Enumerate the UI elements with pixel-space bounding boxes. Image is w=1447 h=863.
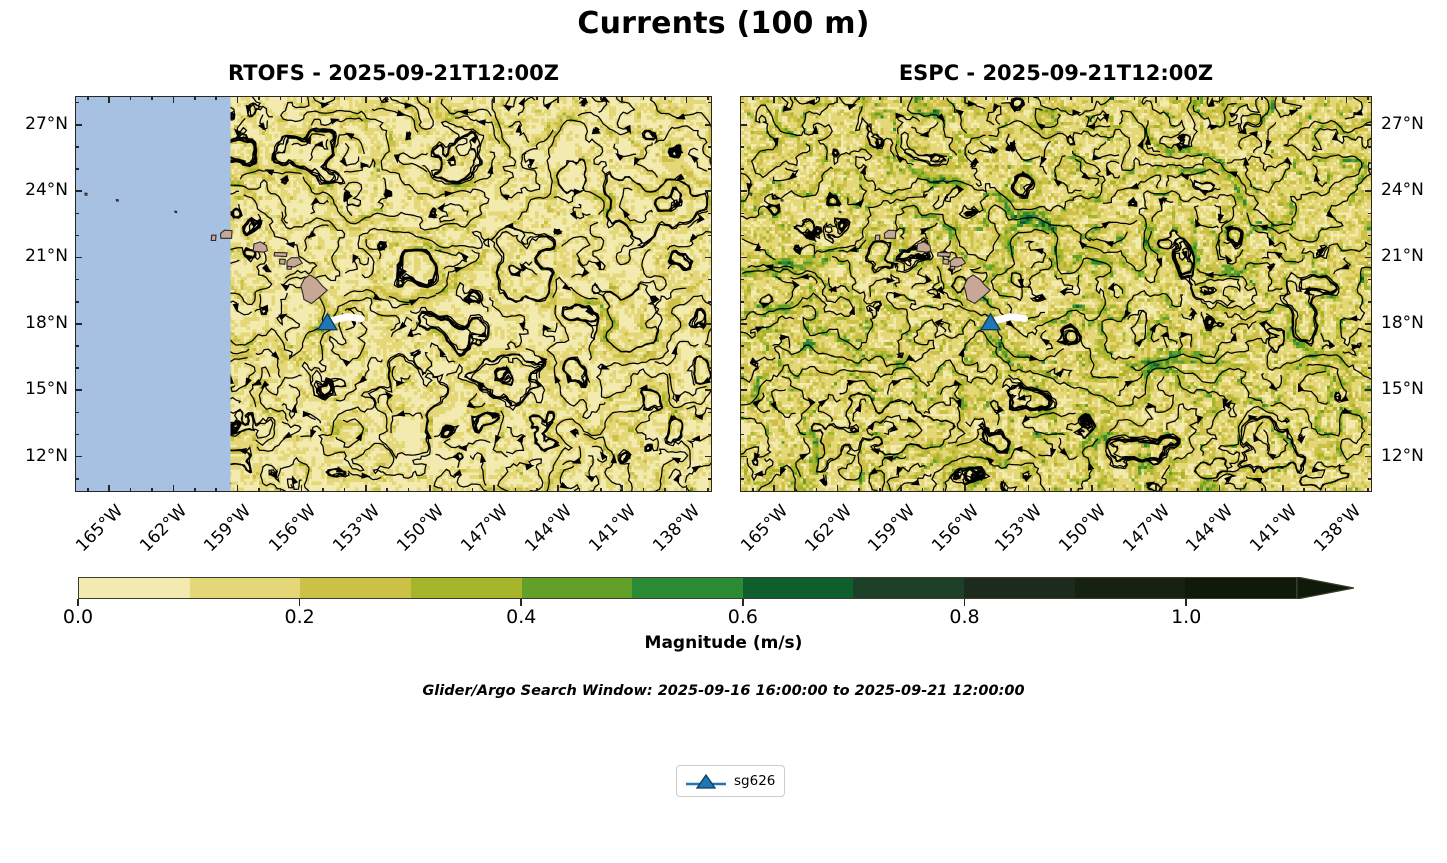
ytick-minor: [75, 478, 79, 480]
ytick-label-left: 27°N: [6, 114, 68, 134]
ytick-minor: [1368, 146, 1372, 148]
xtick-minor: [879, 488, 881, 492]
xtick-major: [837, 96, 839, 103]
ytick-minor: [1368, 412, 1372, 414]
ytick-major: [1365, 257, 1372, 259]
colorbar-segment: [964, 578, 1075, 598]
land-kauai: [884, 230, 896, 238]
ytick-major: [75, 257, 82, 259]
ytick-major: [705, 389, 712, 391]
search-window-note: Glider/Argo Search Window: 2025-09-16 16…: [0, 683, 1447, 699]
xtick-minor: [151, 488, 153, 492]
ytick-minor: [740, 301, 744, 303]
xtick-minor: [1113, 96, 1115, 100]
ytick-minor: [1368, 367, 1372, 369]
land-nihoa: [175, 211, 177, 212]
xtick-major: [1028, 485, 1030, 492]
xtick-minor: [451, 96, 453, 100]
ytick-minor: [708, 345, 712, 347]
ytick-major: [740, 190, 747, 192]
ytick-minor: [708, 412, 712, 414]
ytick-minor: [708, 478, 712, 480]
xtick-major: [1091, 485, 1093, 492]
land-molokai: [938, 252, 951, 256]
colorbar-segment: [79, 578, 190, 598]
xtick-minor: [985, 488, 987, 492]
land-nihoa: [839, 211, 841, 212]
xtick-major: [1346, 96, 1348, 103]
colorbar-tick: [299, 599, 301, 606]
xtick-label: 156°W: [918, 501, 983, 566]
ytick-major: [705, 124, 712, 126]
xtick-label: 150°W: [383, 501, 448, 566]
ytick-minor: [1368, 102, 1372, 104]
xtick-label: 150°W: [1045, 501, 1110, 566]
xtick-label: 162°W: [126, 501, 191, 566]
xtick-minor: [858, 488, 860, 492]
colorbar-segment: [632, 578, 743, 598]
xtick-label: 162°W: [791, 501, 856, 566]
ytick-minor: [708, 102, 712, 104]
xtick-major: [1219, 96, 1221, 103]
ytick-minor: [1368, 168, 1372, 170]
xtick-minor: [408, 96, 410, 100]
xtick-label: 147°W: [1109, 501, 1174, 566]
ytick-major: [75, 124, 82, 126]
xtick-minor: [215, 488, 217, 492]
ytick-major: [75, 190, 82, 192]
xtick-label: 159°W: [854, 501, 919, 566]
xtick-major: [237, 96, 239, 103]
xtick-minor: [707, 488, 709, 492]
xtick-minor: [472, 488, 474, 492]
xtick-label: 138°W: [639, 501, 704, 566]
land-niihau: [875, 235, 880, 240]
ytick-minor: [75, 367, 79, 369]
ytick-minor: [75, 213, 79, 215]
xtick-minor: [87, 96, 89, 100]
colorbar-tick-label: 1.0: [1141, 606, 1231, 628]
xtick-minor: [280, 96, 282, 100]
ytick-label-left: 21°N: [6, 246, 68, 266]
ytick-major: [1365, 456, 1372, 458]
map-panel-rtofs[interactable]: [75, 96, 712, 492]
ytick-major: [705, 323, 712, 325]
xtick-major: [493, 96, 495, 103]
ytick-minor: [740, 434, 744, 436]
colorbar-tick: [77, 599, 79, 606]
land-frigate: [85, 193, 87, 195]
ytick-major: [705, 190, 712, 192]
xtick-minor: [515, 488, 517, 492]
ytick-label-left: 18°N: [6, 313, 68, 333]
colorbar-tick-label: 0.6: [698, 606, 788, 628]
colorbar-segment: [743, 578, 854, 598]
xtick-major: [1028, 96, 1030, 103]
xtick-major: [837, 485, 839, 492]
colorbar-tick-label: 0.4: [476, 606, 566, 628]
ytick-minor: [1368, 235, 1372, 237]
ytick-major: [75, 456, 82, 458]
xtick-minor: [344, 488, 346, 492]
ytick-major: [1365, 124, 1372, 126]
xtick-major: [108, 485, 110, 492]
xtick-label: 156°W: [255, 501, 320, 566]
colorbar-segment: [853, 578, 964, 598]
ytick-minor: [75, 102, 79, 104]
ytick-minor: [75, 168, 79, 170]
ytick-label-left: 24°N: [6, 180, 68, 200]
xtick-minor: [472, 96, 474, 100]
ytick-label-right: 18°N: [1381, 313, 1447, 333]
ytick-minor: [75, 434, 79, 436]
ytick-major: [740, 124, 747, 126]
xtick-minor: [1176, 96, 1178, 100]
ytick-minor: [740, 478, 744, 480]
xtick-major: [773, 96, 775, 103]
xtick-minor: [1113, 488, 1115, 492]
ytick-minor: [708, 213, 712, 215]
ytick-label-left: 12°N: [6, 446, 68, 466]
xtick-major: [173, 485, 175, 492]
xtick-minor: [879, 96, 881, 100]
xtick-major: [301, 485, 303, 492]
xtick-minor: [280, 488, 282, 492]
ytick-minor: [740, 235, 744, 237]
ytick-minor: [740, 279, 744, 281]
colorbar-segment: [1185, 578, 1296, 598]
colorbar-tick: [520, 599, 522, 606]
ytick-minor: [1368, 213, 1372, 215]
xtick-label: 144°W: [511, 501, 576, 566]
ytick-minor: [75, 345, 79, 347]
xtick-minor: [1049, 96, 1051, 100]
xtick-label: 141°W: [575, 501, 640, 566]
xtick-major: [1282, 96, 1284, 103]
xtick-major: [686, 485, 688, 492]
current-field: [741, 97, 1371, 491]
xtick-minor: [1007, 96, 1009, 100]
xtick-minor: [752, 96, 754, 100]
xtick-major: [1282, 485, 1284, 492]
xtick-major: [1155, 485, 1157, 492]
xtick-minor: [322, 488, 324, 492]
xtick-major: [557, 96, 559, 103]
xtick-minor: [1197, 96, 1199, 100]
ytick-major: [740, 323, 747, 325]
ytick-major: [740, 257, 747, 259]
xtick-minor: [1134, 488, 1136, 492]
xtick-minor: [1049, 488, 1051, 492]
ytick-minor: [708, 146, 712, 148]
xtick-major: [621, 96, 623, 103]
ytick-label-right: 27°N: [1381, 114, 1447, 134]
legend-label-sg626: sg626: [734, 773, 775, 789]
xtick-label: 138°W: [1300, 501, 1365, 566]
xtick-minor: [816, 96, 818, 100]
ytick-minor: [708, 301, 712, 303]
xtick-minor: [600, 488, 602, 492]
ytick-minor: [75, 235, 79, 237]
ytick-minor: [740, 168, 744, 170]
xtick-minor: [816, 488, 818, 492]
ytick-major: [740, 389, 747, 391]
colorbar-tick-label: 0.2: [255, 606, 345, 628]
xtick-major: [1219, 485, 1221, 492]
xtick-minor: [922, 488, 924, 492]
land-necker: [781, 200, 783, 202]
xtick-label: 144°W: [1172, 501, 1237, 566]
ytick-minor: [708, 279, 712, 281]
colorbar: [78, 577, 1354, 599]
current-field: [76, 97, 711, 491]
ytick-minor: [1368, 345, 1372, 347]
legend-glider-icon: [684, 771, 728, 791]
xtick-label: 165°W: [62, 501, 127, 566]
colorbar-gradient: [78, 577, 1297, 599]
ytick-minor: [1368, 279, 1372, 281]
no-data-mask: [76, 97, 231, 491]
xtick-major: [493, 485, 495, 492]
ytick-minor: [1368, 478, 1372, 480]
xtick-minor: [1240, 96, 1242, 100]
ytick-major: [1365, 190, 1372, 192]
xtick-minor: [258, 488, 260, 492]
xtick-minor: [664, 488, 666, 492]
xtick-minor: [643, 488, 645, 492]
land-molokai: [274, 252, 287, 256]
xtick-minor: [1261, 96, 1263, 100]
ytick-major: [705, 257, 712, 259]
xtick-minor: [1240, 488, 1242, 492]
colorbar-tick: [964, 599, 966, 606]
ytick-minor: [1368, 301, 1372, 303]
xtick-minor: [1070, 96, 1072, 100]
ytick-minor: [740, 412, 744, 414]
land-kahoolawe: [950, 266, 955, 269]
colorbar-tick-label: 0.0: [33, 606, 123, 628]
ytick-major: [75, 389, 82, 391]
ytick-label-right: 24°N: [1381, 180, 1447, 200]
xtick-minor: [1007, 488, 1009, 492]
xtick-minor: [408, 488, 410, 492]
colorbar-segment: [522, 578, 633, 598]
colorbar-segment: [411, 578, 522, 598]
xtick-major: [108, 96, 110, 103]
xtick-minor: [1325, 96, 1327, 100]
xtick-minor: [858, 96, 860, 100]
xtick-minor: [1261, 488, 1263, 492]
xtick-minor: [451, 488, 453, 492]
xtick-minor: [386, 488, 388, 492]
glider-track: [331, 317, 361, 321]
land-frigate: [750, 193, 752, 195]
ytick-minor: [740, 146, 744, 148]
colorbar-segment: [300, 578, 411, 598]
xtick-minor: [344, 96, 346, 100]
colorbar-tick: [1185, 599, 1187, 606]
ytick-major: [75, 323, 82, 325]
colorbar-segment: [190, 578, 301, 598]
ytick-label-right: 21°N: [1381, 246, 1447, 266]
xtick-minor: [130, 96, 132, 100]
xtick-major: [686, 96, 688, 103]
xtick-minor: [922, 96, 924, 100]
ytick-minor: [708, 235, 712, 237]
page-title: Currents (100 m): [0, 6, 1447, 41]
xtick-minor: [794, 96, 796, 100]
xtick-major: [237, 485, 239, 492]
xtick-minor: [579, 488, 581, 492]
xtick-minor: [600, 96, 602, 100]
legend[interactable]: sg626: [676, 765, 785, 797]
colorbar-extend-arrow: [1297, 577, 1354, 599]
xtick-major: [365, 485, 367, 492]
xtick-minor: [1070, 488, 1072, 492]
xtick-major: [964, 96, 966, 103]
land-necker: [116, 200, 118, 202]
xtick-label: 153°W: [319, 501, 384, 566]
xtick-minor: [194, 96, 196, 100]
xtick-minor: [943, 488, 945, 492]
land-kahoolawe: [287, 266, 292, 269]
xtick-label: 147°W: [447, 501, 512, 566]
xtick-minor: [985, 96, 987, 100]
xtick-label: 153°W: [982, 501, 1047, 566]
xtick-minor: [1325, 488, 1327, 492]
xtick-minor: [1176, 488, 1178, 492]
ytick-minor: [708, 367, 712, 369]
xtick-minor: [258, 96, 260, 100]
ytick-major: [1365, 389, 1372, 391]
colorbar-tick: [742, 599, 744, 606]
ytick-minor: [740, 367, 744, 369]
xtick-minor: [194, 488, 196, 492]
xtick-minor: [130, 488, 132, 492]
xtick-minor: [579, 96, 581, 100]
ytick-minor: [708, 434, 712, 436]
colorbar-label: Magnitude (m/s): [0, 633, 1447, 653]
ytick-minor: [740, 345, 744, 347]
map-panel-espc[interactable]: [740, 96, 1372, 492]
xtick-label: 165°W: [727, 501, 792, 566]
panel-title-rtofs: RTOFS - 2025-09-21T12:00Z: [75, 61, 712, 85]
glider-track: [995, 317, 1025, 321]
panel-title-espc: ESPC - 2025-09-21T12:00Z: [740, 61, 1372, 85]
colorbar-tick-label: 0.8: [920, 606, 1010, 628]
xtick-major: [900, 485, 902, 492]
xtick-minor: [386, 96, 388, 100]
ytick-minor: [740, 213, 744, 215]
xtick-minor: [1303, 96, 1305, 100]
ytick-minor: [708, 168, 712, 170]
xtick-minor: [1367, 96, 1369, 100]
colorbar-segment: [1075, 578, 1186, 598]
xtick-minor: [1303, 488, 1305, 492]
ytick-label-right: 15°N: [1381, 379, 1447, 399]
xtick-major: [964, 485, 966, 492]
xtick-major: [621, 485, 623, 492]
ytick-major: [1365, 323, 1372, 325]
land-lanai: [943, 259, 949, 264]
xtick-minor: [215, 96, 217, 100]
xtick-minor: [322, 96, 324, 100]
xtick-minor: [515, 96, 517, 100]
xtick-minor: [536, 96, 538, 100]
land-kauai: [221, 230, 233, 238]
xtick-minor: [752, 488, 754, 492]
xtick-major: [429, 485, 431, 492]
xtick-major: [557, 485, 559, 492]
xtick-major: [365, 96, 367, 103]
ytick-minor: [740, 102, 744, 104]
xtick-minor: [943, 96, 945, 100]
ytick-major: [705, 456, 712, 458]
xtick-minor: [643, 96, 645, 100]
ytick-minor: [75, 279, 79, 281]
ytick-minor: [75, 412, 79, 414]
xtick-minor: [1197, 488, 1199, 492]
xtick-minor: [664, 96, 666, 100]
xtick-minor: [151, 96, 153, 100]
ytick-minor: [1368, 434, 1372, 436]
xtick-major: [301, 96, 303, 103]
xtick-major: [1346, 485, 1348, 492]
xtick-minor: [1367, 488, 1369, 492]
xtick-major: [429, 96, 431, 103]
ytick-minor: [75, 301, 79, 303]
xtick-minor: [707, 96, 709, 100]
xtick-major: [1155, 96, 1157, 103]
xtick-minor: [794, 488, 796, 492]
xtick-minor: [87, 488, 89, 492]
ytick-label-right: 12°N: [1381, 446, 1447, 466]
land-niihau: [211, 235, 216, 240]
xtick-major: [1091, 96, 1093, 103]
xtick-minor: [536, 488, 538, 492]
xtick-major: [773, 485, 775, 492]
ytick-label-left: 15°N: [6, 379, 68, 399]
xtick-minor: [1134, 96, 1136, 100]
xtick-major: [173, 96, 175, 103]
xtick-major: [900, 96, 902, 103]
ytick-minor: [75, 146, 79, 148]
xtick-label: 141°W: [1236, 501, 1301, 566]
xtick-label: 159°W: [191, 501, 256, 566]
ytick-major: [740, 456, 747, 458]
land-lanai: [280, 259, 286, 264]
